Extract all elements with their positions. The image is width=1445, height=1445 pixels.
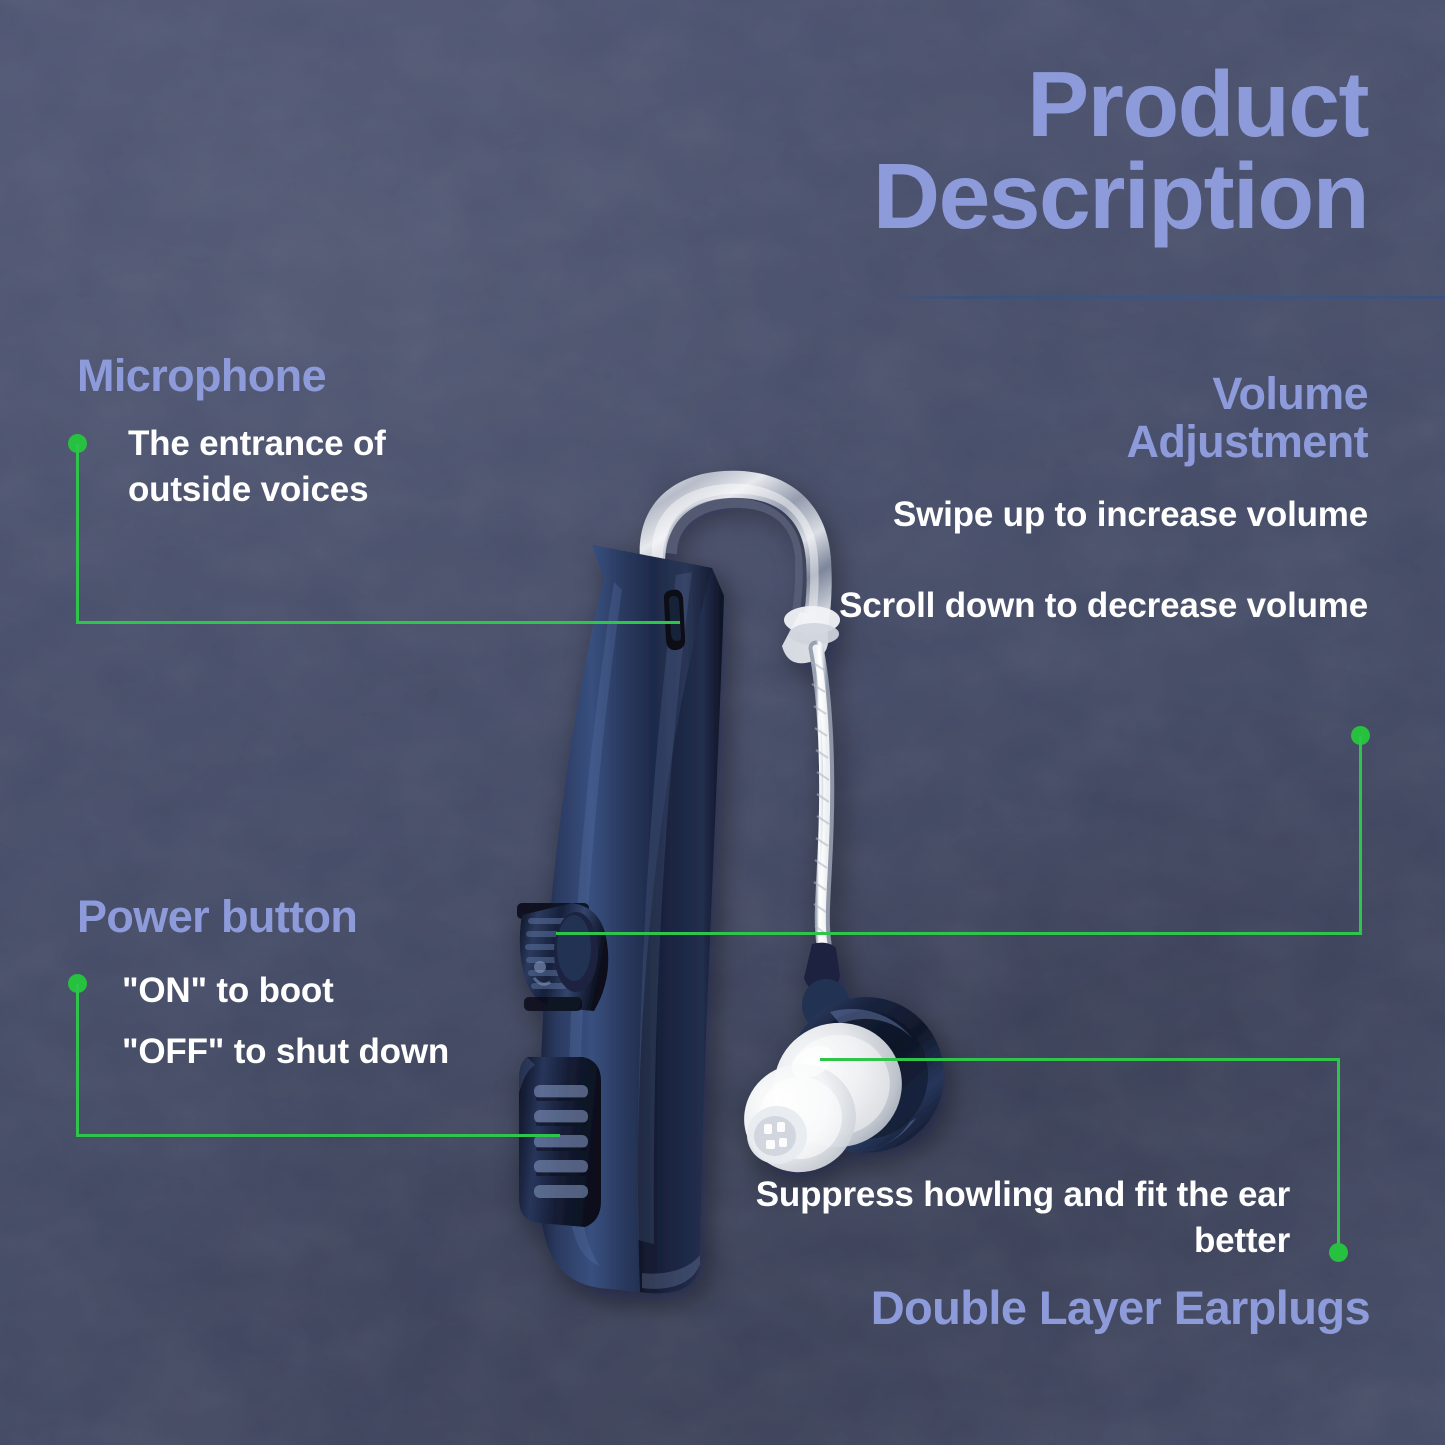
microphone-connector-horizontal bbox=[76, 621, 680, 624]
power-connector-vertical bbox=[76, 984, 79, 1136]
earplugs-body: Suppress howling and fit the ear better bbox=[670, 1172, 1290, 1263]
microphone-heading: Microphone bbox=[77, 352, 326, 400]
earplugs-connector-dot bbox=[1329, 1243, 1348, 1262]
volume-connector-horizontal bbox=[556, 932, 1362, 935]
microphone-body: The entrance of outside voices bbox=[128, 421, 458, 512]
power-button-body-1: "ON" to boot bbox=[122, 968, 542, 1014]
microphone-connector-vertical bbox=[76, 444, 79, 624]
power-button-heading: Power button bbox=[77, 893, 357, 941]
volume-body-2: Scroll down to decrease volume bbox=[748, 583, 1368, 629]
title-line-2: Description bbox=[548, 150, 1368, 242]
earplugs-connector-vertical bbox=[1337, 1058, 1340, 1250]
volume-heading-line-2: Adjustment bbox=[808, 418, 1368, 466]
power-button-body-2: "OFF" to shut down bbox=[122, 1029, 542, 1075]
page-title: Product Description bbox=[548, 58, 1368, 242]
volume-heading: Volume Adjustment bbox=[808, 370, 1368, 465]
volume-heading-line-1: Volume bbox=[808, 370, 1368, 418]
volume-connector-vertical bbox=[1359, 736, 1362, 934]
power-connector-horizontal bbox=[76, 1134, 560, 1137]
header-divider bbox=[885, 296, 1445, 299]
title-line-1: Product bbox=[548, 58, 1368, 150]
earplugs-heading: Double Layer Earplugs bbox=[670, 1283, 1370, 1333]
earplugs-connector-horizontal bbox=[820, 1058, 1340, 1061]
volume-body-1: Swipe up to increase volume bbox=[748, 492, 1368, 538]
